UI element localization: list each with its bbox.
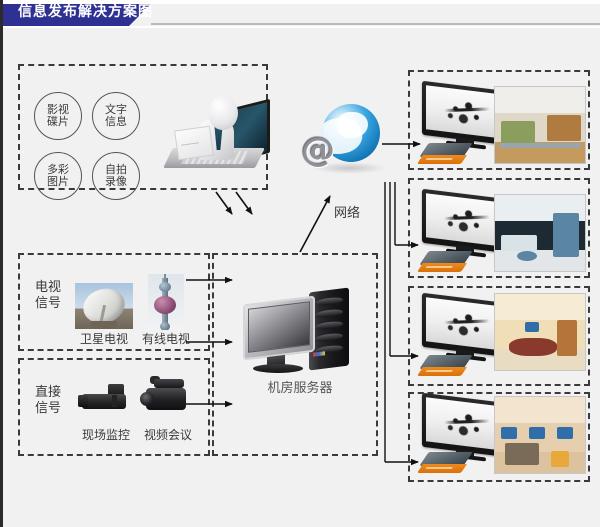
- stb-front-panel: [417, 367, 467, 376]
- dining-kitchen-room-photo: [494, 86, 586, 164]
- tv-signal-label-line2: 信号: [26, 296, 70, 312]
- modern-living-room-photo: [494, 194, 586, 272]
- direct-signal-label-line2: 信号: [26, 401, 70, 417]
- tower-upper-sphere: [159, 282, 171, 292]
- satellite-dish-icon: [75, 283, 133, 329]
- banner-rule-lower: [3, 26, 600, 28]
- camcorder-lens: [140, 392, 154, 406]
- edge-content-to-server-b: [236, 192, 252, 214]
- direct-signal-group-label: 直接 信号: [26, 385, 70, 417]
- camcorder-handle: [154, 379, 184, 388]
- room-furniture-3: [517, 251, 537, 261]
- tower-main-sphere: [154, 296, 176, 314]
- edge-server-to-network: [300, 196, 330, 252]
- tv-screen: [426, 397, 504, 451]
- warm-dining-room-photo: [494, 293, 586, 371]
- tv-screen: [426, 297, 504, 351]
- stb-front-panel: [417, 263, 467, 272]
- cable-tv-label: 有线电视: [130, 332, 202, 346]
- tv-screen: [426, 85, 504, 139]
- room-furniture-2: [529, 427, 545, 439]
- room-furniture-1: [501, 427, 517, 439]
- paper-sheet: [174, 126, 214, 161]
- monitor-screen: [248, 301, 310, 353]
- tv-screen-graphic: [440, 407, 492, 443]
- camcorder-icon: [140, 374, 194, 420]
- room-furniture-3: [499, 143, 581, 148]
- office-computer-room-photo: [494, 396, 586, 474]
- source-circle-video-disc[interactable]: 影视 碟片: [34, 92, 82, 140]
- room-furniture-1: [501, 121, 535, 145]
- banner-rule: [151, 23, 600, 25]
- camera-mount: [112, 395, 117, 407]
- set-top-box-icon: [424, 143, 474, 167]
- circle-line-2: 信息: [105, 116, 127, 128]
- tv-screen: [426, 193, 504, 247]
- tv-screen-graphic: [440, 95, 492, 131]
- source-circle-text-info[interactable]: 文字 信息: [92, 92, 140, 140]
- dish-base: [91, 321, 117, 329]
- circle-line-2: 录像: [105, 176, 127, 188]
- network-label: 网络: [325, 207, 369, 221]
- set-top-box-icon: [424, 251, 474, 275]
- room-furniture-5: [505, 443, 539, 465]
- tv-signal-label-line1: 电视: [26, 280, 70, 296]
- at-symbol-icon: @: [296, 128, 340, 172]
- edge-content-to-server-a: [216, 192, 232, 214]
- page-title: 信息发布解决方案图: [18, 5, 153, 20]
- desktop-computer-icon: [243, 290, 355, 376]
- security-camera-icon: [78, 378, 132, 420]
- tv-screen-graphic: [440, 203, 492, 239]
- set-top-box-icon: [424, 452, 474, 476]
- room-furniture-2: [553, 213, 579, 257]
- globe-at-icon: @: [296, 100, 396, 180]
- monitor-foot: [253, 364, 303, 373]
- tv-screen-graphic: [440, 307, 492, 343]
- source-circle-pictures[interactable]: 多彩 图片: [34, 152, 82, 200]
- stb-front-panel: [417, 155, 467, 164]
- room-furniture-1: [509, 338, 557, 356]
- video-conference-label: 视频会议: [132, 428, 204, 442]
- tv-signal-group-label: 电视 信号: [26, 280, 70, 312]
- source-circle-self-recording[interactable]: 自拍 录像: [92, 152, 140, 200]
- room-ceiling: [495, 397, 585, 423]
- room-furniture-2: [557, 320, 577, 356]
- person-at-laptop-icon: [168, 96, 268, 182]
- tower-lower-sphere: [160, 322, 170, 330]
- person-head: [208, 96, 238, 130]
- room-furniture-2: [547, 115, 581, 141]
- tv-tower-icon: [148, 274, 184, 330]
- room-furniture-3: [557, 427, 573, 439]
- camera-body: [82, 394, 126, 409]
- circle-line-2: 图片: [47, 176, 69, 188]
- pc-tower: [309, 288, 349, 371]
- circle-line-2: 碟片: [47, 116, 69, 128]
- diagram-canvas: 信息发布解决方案图 影视 碟片 文字 信息 多彩 图片 自拍 录像 电视 信号: [0, 0, 600, 527]
- page-left-border: [0, 0, 3, 527]
- room-ceiling: [495, 87, 585, 113]
- camera-lens: [78, 395, 88, 407]
- stb-front-panel: [417, 464, 467, 473]
- set-top-box-icon: [424, 355, 474, 379]
- room-furniture-1: [501, 235, 537, 251]
- server-label: 机房服务器: [240, 382, 360, 396]
- room-ceiling: [495, 294, 585, 320]
- room-furniture-3: [525, 322, 539, 332]
- room-furniture-4: [551, 451, 569, 467]
- direct-signal-label-line1: 直接: [26, 385, 70, 401]
